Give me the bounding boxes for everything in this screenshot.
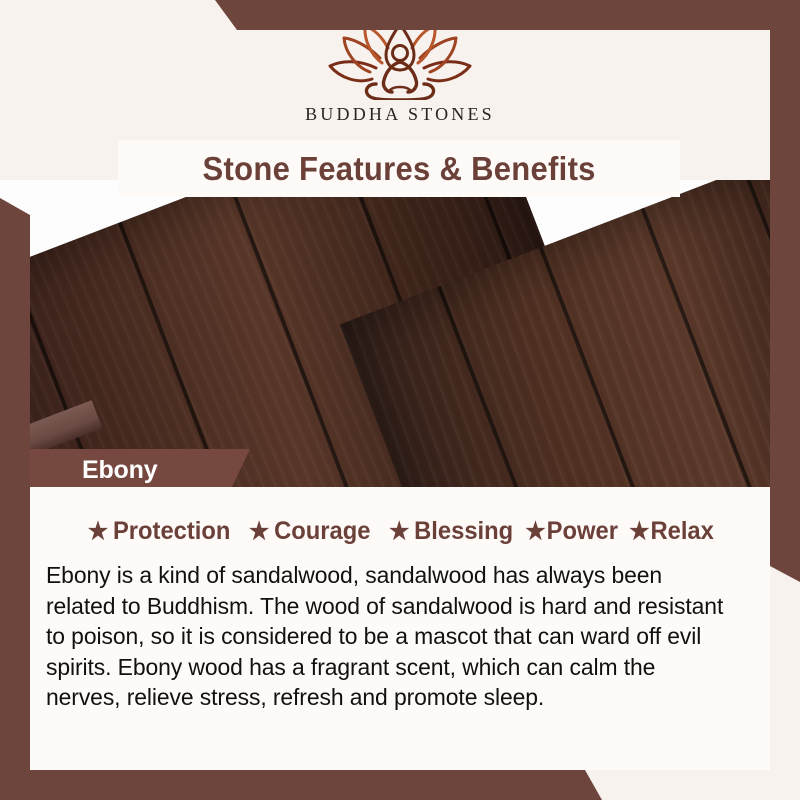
description-text: Ebony is a kind of sandalwood, sandalwoo… <box>46 560 734 713</box>
brand-wordmark: BUDDHA STONES <box>305 104 495 125</box>
star-icon: ★ <box>249 520 269 544</box>
benefit-label: Blessing <box>414 517 513 546</box>
star-icon: ★ <box>88 520 108 544</box>
product-name-label: Ebony <box>82 456 157 485</box>
benefit-item-protection: ★ Protection <box>88 517 231 546</box>
benefits-list: ★ Protection ★ Courage ★ Blessing ★ Powe… <box>30 487 770 546</box>
content-panel: ★ Protection ★ Courage ★ Blessing ★ Powe… <box>30 487 770 770</box>
poster-root: BUDDHA STONES Stone Features & Benefits … <box>0 0 800 800</box>
lotus-meditation-icon <box>320 22 480 100</box>
benefit-item-relax: ★ Relax <box>623 517 713 546</box>
product-photo <box>0 180 800 487</box>
star-icon: ★ <box>389 520 409 544</box>
star-icon: ★ <box>629 520 649 544</box>
benefit-label: Relax <box>650 517 713 546</box>
benefit-item-blessing: ★ Blessing <box>378 517 514 546</box>
benefit-item-power: ★ Power <box>520 517 618 546</box>
benefit-item-courage: ★ Courage <box>238 517 371 546</box>
frame-bottom-bar <box>0 770 800 800</box>
page-title: Stone Features & Benefits <box>202 150 595 188</box>
product-name-banner: Ebony <box>30 449 250 491</box>
star-icon: ★ <box>525 520 545 544</box>
benefit-label: Courage <box>274 517 370 546</box>
benefit-label: Power <box>547 517 618 546</box>
frame-right-bar <box>770 0 800 582</box>
frame-left-bar <box>0 198 30 800</box>
title-band: Stone Features & Benefits <box>118 140 680 197</box>
benefit-label: Protection <box>113 517 230 546</box>
